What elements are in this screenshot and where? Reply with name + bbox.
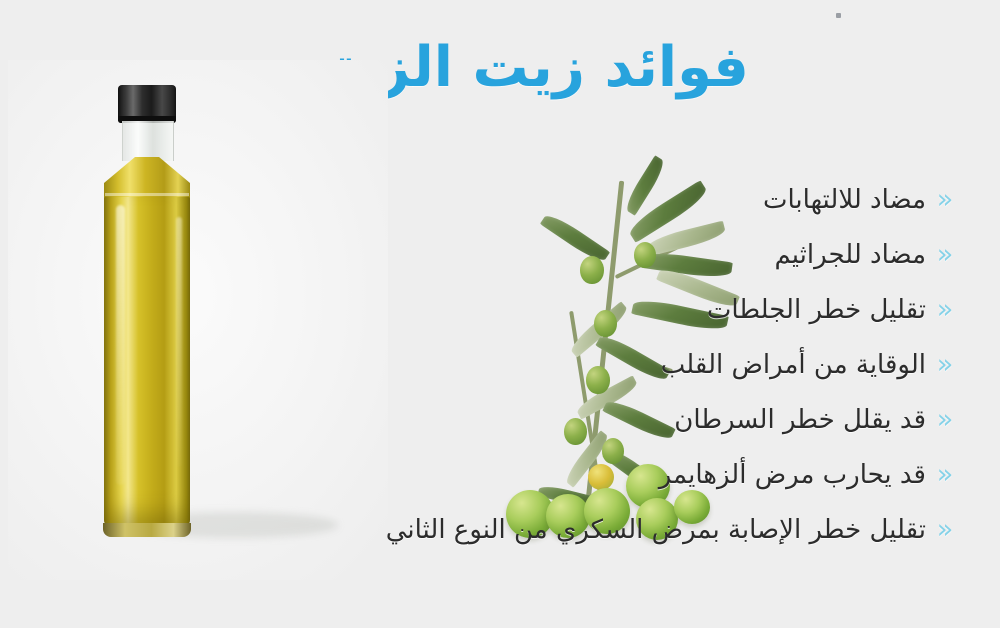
benefit-label: تقليل خطر الإصابة بمرض السكري من النوع ا… [386, 517, 926, 543]
photo-backdrop [8, 60, 388, 580]
chevron-left-icon: « [930, 516, 960, 543]
benefit-label: قد يقلل خطر السرطان [674, 407, 926, 433]
bottle-body-oil [104, 197, 190, 527]
list-item: « مضاد للجراثيم [340, 241, 960, 296]
chevron-left-icon: « [930, 351, 960, 378]
list-item: « مضاد للالتهابات [340, 186, 960, 241]
benefit-label: قد يحارب مرض ألزهايمر [659, 462, 926, 488]
bottle-base [103, 523, 191, 537]
benefit-label: مضاد للجراثيم [774, 242, 926, 268]
oil-fill-line [105, 193, 189, 196]
chevron-left-icon: « [930, 461, 960, 488]
infographic-poster: فوائد زيت الزيتون [0, 0, 1000, 628]
olive-oil-bottle-photo [8, 60, 388, 580]
bottle-neck [122, 121, 174, 161]
list-item: « تقليل خطر الإصابة بمرض السكري من النوع… [340, 516, 960, 571]
chevron-left-icon: « [930, 241, 960, 268]
image-artifact-speck [836, 13, 841, 18]
chevron-left-icon: « [930, 406, 960, 433]
list-item: « قد يقلل خطر السرطان [340, 406, 960, 461]
bottle-cap [118, 85, 176, 123]
list-item: « قد يحارب مرض ألزهايمر [340, 461, 960, 516]
chevron-left-icon: « [930, 186, 960, 213]
benefit-label: الوقاية من أمراض القلب [661, 352, 926, 378]
chevron-left-icon: « [930, 296, 960, 323]
benefits-list: « مضاد للالتهابات « مضاد للجراثيم « تقلي… [340, 186, 960, 571]
list-item: « تقليل خطر الجلطات [340, 296, 960, 351]
olive-oil-bottle [100, 85, 194, 537]
benefit-label: مضاد للالتهابات [763, 187, 926, 213]
list-item: « الوقاية من أمراض القلب [340, 351, 960, 406]
benefit-label: تقليل خطر الجلطات [707, 297, 926, 323]
